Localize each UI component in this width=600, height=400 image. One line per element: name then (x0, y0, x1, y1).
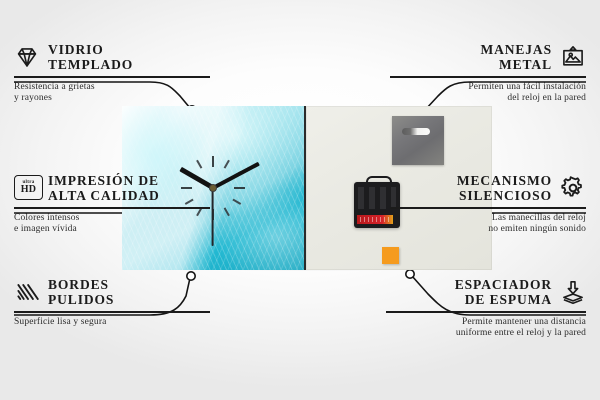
feature-title: ESPACIADOR DE ESPUMA (455, 277, 552, 307)
feature-description: Las manecillas del reloj no emiten ningú… (390, 213, 586, 236)
feature-description: Colores intensos e imagen vívida (14, 213, 210, 236)
feature-description: Permiten una fácil instalación del reloj… (390, 82, 586, 105)
feature-description: Resistencia a grietas y rayones (14, 82, 210, 105)
feature-mecanismo-silencioso: MECANISMO SILENCIOSO Las manecillas del … (390, 173, 586, 236)
arrow-down-layers-icon (560, 279, 586, 305)
gear-icon (560, 175, 586, 201)
hanging-frame-icon (560, 44, 586, 70)
feature-divider (14, 311, 210, 313)
feature-impresion-alta-calidad: ultra HD IMPRESIÓN DE ALTA CALIDAD Color… (14, 173, 210, 236)
feature-header: MECANISMO SILENCIOSO (390, 173, 586, 203)
feature-bordes-pulidos: BORDES PULIDOS Superficie lisa y segura (14, 277, 210, 328)
metal-hanger-plate (392, 116, 444, 165)
feature-divider (14, 76, 210, 78)
feature-title: VIDRIO TEMPLADO (48, 42, 133, 72)
feature-header: MANEJAS METAL (390, 42, 586, 72)
feature-divider (390, 76, 586, 78)
feature-header: BORDES PULIDOS (14, 277, 210, 307)
feature-title: IMPRESIÓN DE ALTA CALIDAD (48, 173, 160, 203)
feature-divider (14, 207, 210, 209)
mechanism-hanging-loop (366, 176, 392, 187)
infographic-canvas: VIDRIO TEMPLADO Resistencia a grietas y … (0, 0, 600, 400)
feature-divider (386, 311, 586, 313)
feature-description: Permite mantener una distancia uniforme … (386, 317, 586, 340)
feature-title: MANEJAS METAL (480, 42, 552, 72)
feature-description: Superficie lisa y segura (14, 317, 210, 329)
diamond-icon (14, 44, 40, 70)
feature-divider (390, 207, 586, 209)
clock-second-hand (212, 188, 214, 246)
diagonal-stripes-icon (14, 279, 40, 305)
feature-header: ESPACIADOR DE ESPUMA (386, 277, 586, 307)
feature-title: MECANISMO SILENCIOSO (457, 173, 552, 203)
hanger-keyhole-slot (402, 128, 430, 135)
foam-spacer-pad (382, 247, 399, 264)
feature-header: VIDRIO TEMPLADO (14, 42, 210, 72)
battery-compartment (357, 215, 393, 224)
feature-manejas-metal: MANEJAS METAL Permiten una fácil instala… (390, 42, 586, 105)
feature-espaciador-de-espuma: ESPACIADOR DE ESPUMA Permite mantener un… (386, 277, 586, 340)
feature-title: BORDES PULIDOS (48, 277, 114, 307)
ultra-hd-icon: ultra HD (14, 175, 40, 201)
feature-vidrio-templado: VIDRIO TEMPLADO Resistencia a grietas y … (14, 42, 210, 105)
clock-center-pin (210, 185, 216, 191)
feature-header: ultra HD IMPRESIÓN DE ALTA CALIDAD (14, 173, 210, 203)
